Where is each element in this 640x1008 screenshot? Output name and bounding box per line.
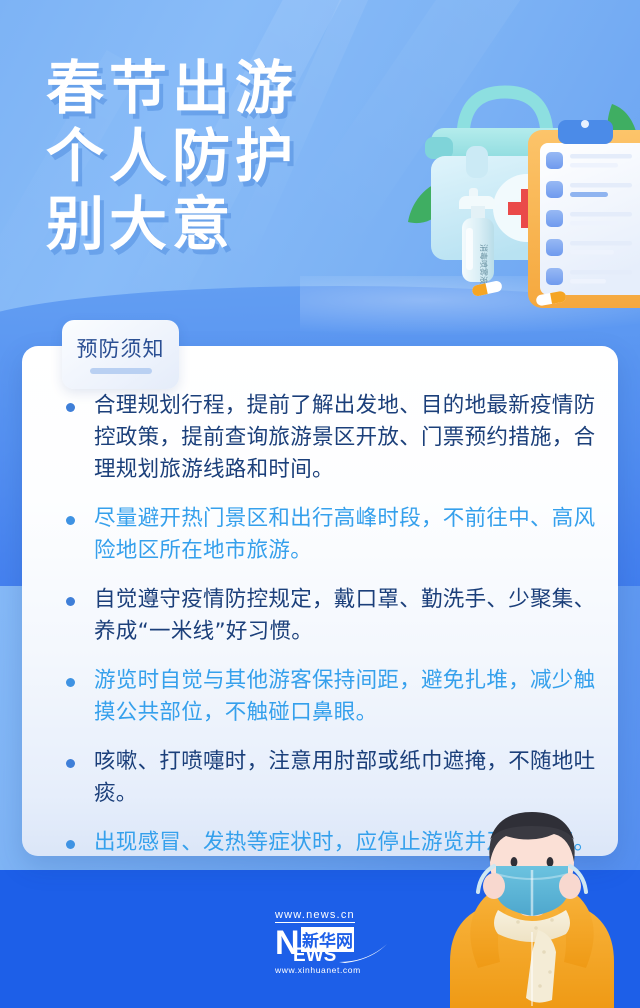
masked-person-illustration [432,800,632,1008]
section-badge-underline [90,368,152,374]
spray-bottle-icon: 消毒喷雾液 [459,188,495,284]
bullet-dot-icon [66,403,75,412]
title-line-3: 别大意 [46,190,298,258]
list-item-text: 合理规划行程，提前了解出发地、目的地最新疫情防控政策，提前查询旅游景区开放、门票… [94,390,604,486]
title-line-2: 个人防护 [46,122,298,190]
section-badge: 预防须知 [62,320,179,389]
eye [547,857,554,867]
bullet-dot-icon [66,678,75,687]
logo-top-url: www.news.cn [275,909,355,923]
list-item-text: 游览时自觉与其他游客保持间距，避免扎堆，减少触摸公共部位，不触碰口鼻眼。 [94,665,604,729]
bullet-dot-icon [66,840,75,849]
svg-text:消毒喷雾液: 消毒喷雾液 [479,244,489,284]
list-item-text: 自觉遵守疫情防控规定，戴口罩、勤洗手、少聚集、养成“一米线”好习惯。 [94,584,604,648]
eye [511,857,518,867]
logo-word: EWS [293,945,336,967]
title-line-1: 春节出游 [46,54,298,122]
hand [559,873,581,899]
list-item-text: 尽量避开热门景区和出行高峰时段，不前往中、高风险地区所在地市旅游。 [94,503,604,567]
poster-title: 春节出游 个人防护 别大意 [46,54,298,258]
list-item: 游览时自觉与其他游客保持间距，避免扎堆，减少触摸公共部位，不触碰口鼻眼。 [58,665,604,729]
bullet-dot-icon [66,516,75,525]
poster-root: 消毒喷雾液 春节出游 个人防护 别大意 预防须知 合理规划行程，提前了解出发地、… [0,0,640,1008]
list-item: 自觉遵守疫情防控规定，戴口罩、勤洗手、少聚集、养成“一米线”好习惯。 [58,584,604,648]
list-item: 尽量避开热门景区和出行高峰时段，不前往中、高风险地区所在地市旅游。 [58,503,604,567]
bullet-dot-icon [66,759,75,768]
hand [483,873,505,899]
xinhua-logo: www.news.cn N 新华网 EWS www.xinhuanet.com [275,905,395,975]
clipboard-checklist-icon [528,120,640,308]
bullet-dot-icon [66,597,75,606]
list-item: 合理规划行程，提前了解出发地、目的地最新疫情防控政策，提前查询旅游景区开放、门票… [58,390,604,486]
swoosh-icon [337,942,389,964]
section-badge-label: 预防须知 [77,336,165,362]
